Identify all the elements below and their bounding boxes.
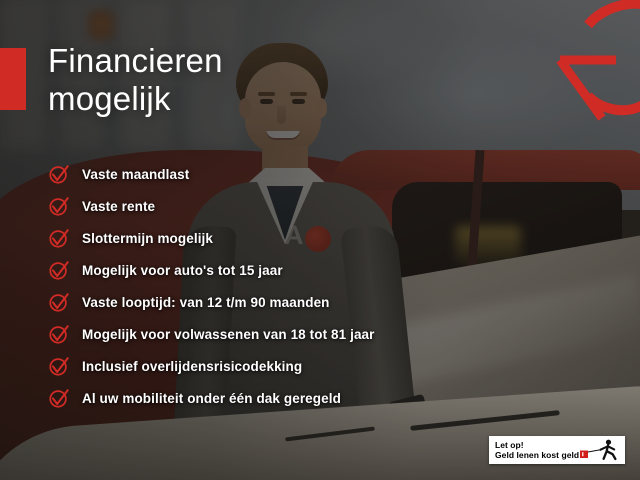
red-accent-rectangle [0, 48, 26, 110]
red-arc-logo-shape [554, 0, 640, 122]
list-item: Al uw mobiliteit onder één dak geregeld [48, 382, 608, 414]
feature-list: Vaste maandlast Vaste rente Slottermijn … [48, 158, 608, 414]
list-item-label: Mogelijk voor auto's tot 15 jaar [82, 263, 283, 278]
list-item-label: Mogelijk voor volwassenen van 18 tot 81 … [82, 327, 375, 342]
walking-person-pulling-block-icon [579, 439, 623, 461]
list-item: Mogelijk voor volwassenen van 18 tot 81 … [48, 318, 608, 350]
check-circle-icon [48, 259, 70, 281]
warning-line-2: Geld lenen kost geld [495, 450, 579, 461]
warning-line-1: Let op! [495, 440, 579, 451]
check-circle-icon [48, 163, 70, 185]
list-item-label: Inclusief overlijdensrisicodekking [82, 359, 302, 374]
list-item-label: Slottermijn mogelijk [82, 231, 213, 246]
check-circle-icon [48, 323, 70, 345]
list-item-label: Al uw mobiliteit onder één dak geregeld [82, 391, 341, 406]
financing-promo-banner: A Financieren mogelijk [0, 0, 640, 480]
status-badge: Let op! Geld lenen kost geld [489, 436, 625, 464]
list-item: Vaste looptijd: van 12 t/m 90 maanden [48, 286, 608, 318]
list-item: Vaste maandlast [48, 158, 608, 190]
check-circle-icon [48, 291, 70, 313]
red-accent-rectangle-shape [0, 48, 26, 110]
list-item-label: Vaste rente [82, 199, 155, 214]
list-item: Vaste rente [48, 190, 608, 222]
check-circle-icon [48, 227, 70, 249]
check-circle-icon [48, 387, 70, 409]
list-item-label: Vaste looptijd: van 12 t/m 90 maanden [82, 295, 330, 310]
page-title: Financieren mogelijk [48, 42, 223, 118]
red-arc-logo [554, 0, 640, 122]
list-item: Inclusief overlijdensrisicodekking [48, 350, 608, 382]
check-circle-icon [48, 355, 70, 377]
warning-text: Let op! Geld lenen kost geld [495, 440, 579, 461]
list-item-label: Vaste maandlast [82, 167, 189, 182]
list-item: Mogelijk voor auto's tot 15 jaar [48, 254, 608, 286]
check-circle-icon [48, 195, 70, 217]
list-item: Slottermijn mogelijk [48, 222, 608, 254]
